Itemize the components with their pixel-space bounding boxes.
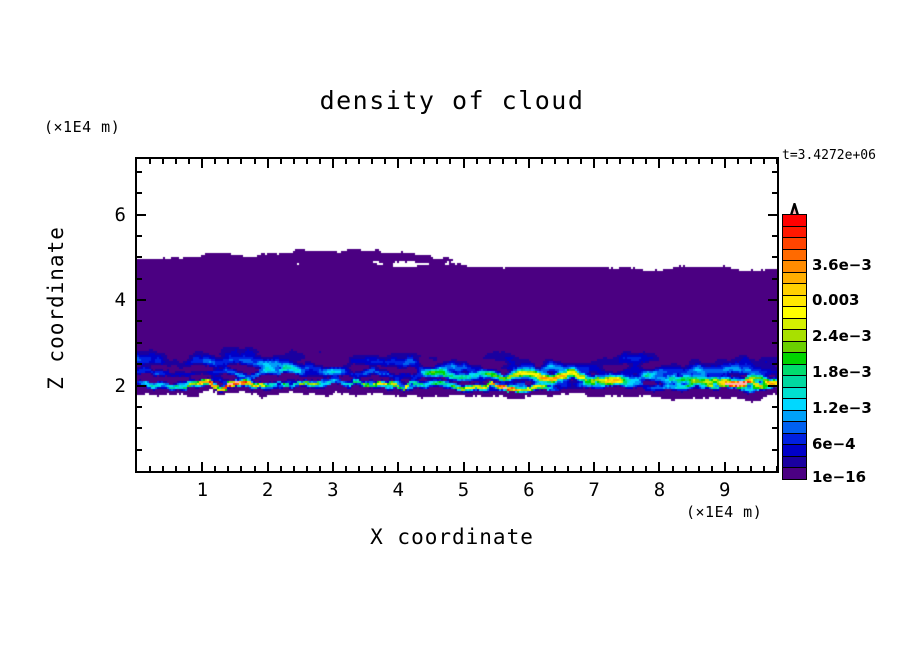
- colorbar-tick-label: 1.8e−3: [812, 363, 872, 381]
- y-axis-title: Z coordinate: [44, 208, 68, 408]
- x-tick-label: 5: [458, 479, 469, 501]
- x-tick-label: 8: [654, 479, 665, 501]
- y-tick-label: 4: [104, 289, 126, 311]
- x-axis-unit-label: (×1E4 m): [686, 503, 762, 521]
- colorbar-tick-label: 1.2e−3: [812, 399, 872, 417]
- cloud-density-field: [137, 159, 777, 471]
- contour-plot-area: [135, 157, 779, 473]
- colorbar-tick-label: 6e−4: [812, 435, 856, 453]
- x-tick-label: 6: [523, 479, 534, 501]
- x-tick-label: 1: [197, 479, 208, 501]
- y-tick-label: 6: [104, 204, 126, 226]
- colorbar: [782, 214, 807, 479]
- y-axis-unit-label: (×1E4 m): [44, 118, 120, 136]
- colorbar-segment: [782, 467, 807, 480]
- colorbar-tick-label: 3.6e−3: [812, 256, 872, 274]
- x-tick-label: 2: [262, 479, 273, 501]
- x-tick-label: 9: [719, 479, 730, 501]
- colorbar-tick-label: 0.003: [812, 291, 859, 309]
- colorbar-tick-label: 2.4e−3: [812, 327, 872, 345]
- x-tick-label: 4: [392, 479, 403, 501]
- x-tick-label: 7: [588, 479, 599, 501]
- x-axis-title: X coordinate: [0, 525, 904, 549]
- y-tick-label: 2: [104, 375, 126, 397]
- colorbar-tick-label: 1e−16: [812, 468, 866, 486]
- x-tick-label: 3: [327, 479, 338, 501]
- page-title: density of cloud: [0, 86, 904, 115]
- timestamp-annotation: t=3.4272e+06: [782, 148, 876, 163]
